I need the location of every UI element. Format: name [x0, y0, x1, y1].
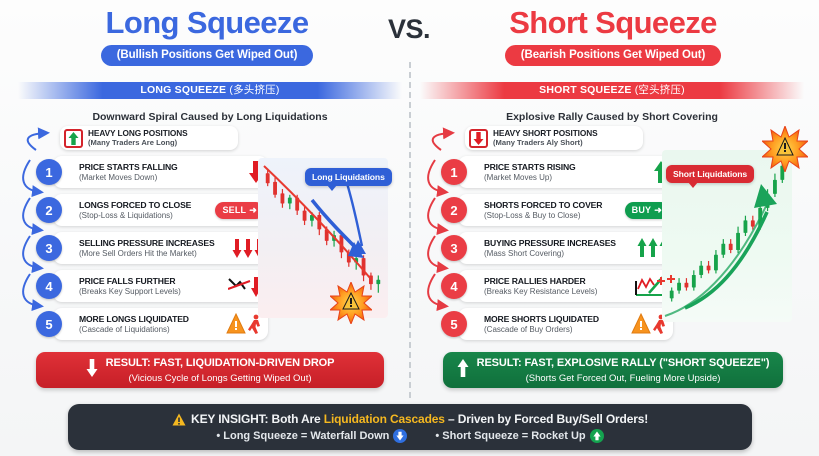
left-step-1-number: 1 — [36, 159, 62, 185]
left-callout: Long Liquidations — [305, 168, 392, 186]
sell-pill[interactable]: SELL ➜ — [215, 202, 264, 219]
right-step-3-sub: (Mass Short Covering) — [484, 249, 635, 259]
left-band: LONG SQUEEZE (多头挤压) — [18, 82, 402, 99]
left-result-banner: RESULT: FAST, LIQUIDATION-DRIVEN DROP (V… — [36, 352, 384, 388]
bullet-long-squeeze: • Long Squeeze = Waterfall Down — [216, 428, 407, 444]
left-band-label-cn: (多头挤压) — [229, 84, 279, 96]
left-step-4-title: PRICE FALLS FURTHER — [79, 276, 226, 287]
left-step-1-title: PRICE STARTS FALLING — [79, 162, 246, 173]
key-insight-bullets: • Long Squeeze = Waterfall Down • Short … — [216, 428, 603, 444]
right-step-5-sub: (Cascade of Buy Orders) — [484, 325, 629, 335]
left-header: Long Squeeze (Bullish Positions Get Wipe… — [22, 6, 392, 66]
key-insight-highlight: Liquidation Cascades — [324, 412, 445, 426]
up-arrow-icon — [457, 359, 469, 382]
right-step-5-number: 5 — [441, 311, 467, 337]
left-caption: Downward Spiral Caused by Long Liquidati… — [18, 111, 402, 123]
left-result-title: RESULT: FAST, LIQUIDATION-DRIVEN DROP — [106, 357, 335, 369]
right-caption: Explosive Rally Caused by Short Covering — [420, 111, 804, 123]
right-step-3-title: BUYING PRESSURE INCREASES — [484, 238, 635, 249]
left-step-4[interactable]: 4 PRICE FALLS FURTHER (Breaks Key Suppor… — [53, 270, 268, 302]
left-step-2[interactable]: 2 LONGS FORCED TO CLOSE (Stop-Loss & Liq… — [53, 194, 268, 226]
left-step-4-number: 4 — [36, 273, 62, 299]
left-step-3-title: SELLING PRESSURE INCREASES — [79, 238, 230, 249]
left-step-5-sub: (Cascade of Liquidations) — [79, 325, 224, 335]
left-explosion-icon — [330, 282, 372, 324]
right-step-4-title: PRICE RALLIES HARDER — [484, 276, 633, 287]
green-up-arrow-icon — [64, 129, 83, 148]
left-steps: HEAVY LONG POSITIONS (Many Traders Are L… — [36, 126, 268, 340]
right-step0: HEAVY SHORT POSITIONS (Many Traders Aly … — [465, 126, 643, 150]
left-result-sub: (Vicious Cycle of Longs Getting Wiped Ou… — [128, 373, 311, 384]
right-step-1-title: PRICE STARTS RISING — [484, 162, 651, 173]
right-step-4[interactable]: 4 PRICE RALLIES HARDER (Breaks Key Resis… — [458, 270, 673, 302]
right-step-4-sub: (Breaks Key Resistance Levels) — [484, 287, 633, 297]
left-step-3-number: 3 — [36, 235, 62, 261]
key-insight-suffix: – Driven by Forced Buy/Sell Orders! — [445, 412, 648, 426]
right-step-1[interactable]: 1 PRICE STARTS RISING (Market Moves Up) — [458, 156, 673, 188]
infographic-root: Long Squeeze (Bullish Positions Get Wipe… — [0, 0, 819, 456]
right-band: SHORT SQUEEZE (空头挤压) — [420, 82, 804, 99]
left-step0: HEAVY LONG POSITIONS (Many Traders Are L… — [60, 126, 238, 150]
left-subtitle-pill: (Bullish Positions Get Wiped Out) — [101, 45, 314, 66]
right-step-1-number: 1 — [441, 159, 467, 185]
right-step-2-title: SHORTS FORCED TO COVER — [484, 200, 623, 211]
right-step-1-sub: (Market Moves Up) — [484, 173, 651, 183]
bullet-short-squeeze-label: • Short Squeeze = Rocket Up — [435, 428, 585, 444]
left-step-2-number: 2 — [36, 197, 62, 223]
right-explosion-icon — [762, 126, 808, 172]
left-step-1[interactable]: 1 PRICE STARTS FALLING (Market Moves Dow… — [53, 156, 268, 188]
right-step-4-number: 4 — [441, 273, 467, 299]
right-step0-sub: (Many Traders Aly Short) — [493, 138, 598, 148]
green-up-circle-icon — [590, 429, 604, 443]
bullet-long-squeeze-label: • Long Squeeze = Waterfall Down — [216, 428, 389, 444]
left-title: Long Squeeze — [22, 6, 392, 40]
right-result-banner: RESULT: FAST, EXPLOSIVE RALLY ("SHORT SQ… — [443, 352, 783, 388]
left-step-3-sub: (More Sell Orders Hit the Market) — [79, 249, 230, 259]
left-step-3[interactable]: 3 SELLING PRESSURE INCREASES (More Sell … — [53, 232, 268, 264]
down-arrow-icon — [86, 359, 98, 382]
right-callout: Short Liquidations — [666, 165, 754, 183]
left-band-label: LONG SQUEEZE — [140, 84, 226, 96]
right-subtitle-pill: (Bearish Positions Get Wiped Out) — [505, 45, 721, 66]
key-insight-line: KEY INSIGHT: Both Are Liquidation Cascad… — [172, 411, 648, 427]
sell-pill-label: SELL — [222, 205, 246, 215]
right-step-2-number: 2 — [441, 197, 467, 223]
right-result-sub: (Shorts Get Forced Out, Fueling More Ups… — [526, 373, 721, 384]
right-step-2-sub: (Stop-Loss & Buy to Close) — [484, 211, 623, 221]
left-step0-title: HEAVY LONG POSITIONS — [88, 128, 188, 138]
right-step-2[interactable]: 2 SHORTS FORCED TO COVER (Stop-Loss & Bu… — [458, 194, 673, 226]
right-step-3-number: 3 — [441, 235, 467, 261]
left-step-5-title: MORE LONGS LIQUIDATED — [79, 314, 224, 325]
right-step-5[interactable]: 5 MORE SHORTS LIQUIDATED (Cascade of Buy… — [458, 308, 673, 340]
right-header: Short Squeeze (Bearish Positions Get Wip… — [428, 6, 798, 66]
right-band-label-cn: (空头挤压) — [635, 84, 685, 96]
arrow-right-icon: ➜ — [654, 205, 662, 216]
arrow-right-icon: ➜ — [249, 205, 257, 216]
warning-triangle-icon — [172, 412, 191, 426]
buy-pill-label: BUY — [632, 205, 652, 215]
left-step-1-sub: (Market Moves Down) — [79, 173, 246, 183]
left-step-4-sub: (Breaks Key Support Levels) — [79, 287, 226, 297]
right-step-3[interactable]: 3 BUYING PRESSURE INCREASES (Mass Short … — [458, 232, 673, 264]
bullet-short-squeeze: • Short Squeeze = Rocket Up — [435, 428, 603, 444]
right-steps: HEAVY SHORT POSITIONS (Many Traders Aly … — [441, 126, 673, 340]
blue-down-circle-icon — [393, 429, 407, 443]
right-title: Short Squeeze — [428, 6, 798, 40]
left-step-5-number: 5 — [36, 311, 62, 337]
right-result-title: RESULT: FAST, EXPLOSIVE RALLY ("SHORT SQ… — [477, 357, 770, 369]
center-divider — [409, 62, 411, 398]
left-step0-sub: (Many Traders Are Long) — [88, 138, 188, 148]
key-insight-prefix: KEY INSIGHT: Both Are — [191, 412, 324, 426]
right-band-label: SHORT SQUEEZE — [539, 84, 631, 96]
left-step-2-sub: (Stop-Loss & Liquidations) — [79, 211, 213, 221]
left-step-5[interactable]: 5 MORE LONGS LIQUIDATED (Cascade of Liqu… — [53, 308, 268, 340]
red-down-arrow-icon — [469, 129, 488, 148]
right-step0-title: HEAVY SHORT POSITIONS — [493, 128, 598, 138]
left-step-2-title: LONGS FORCED TO CLOSE — [79, 200, 213, 211]
key-insight-footer: KEY INSIGHT: Both Are Liquidation Cascad… — [68, 404, 752, 450]
right-step-5-title: MORE SHORTS LIQUIDATED — [484, 314, 629, 325]
